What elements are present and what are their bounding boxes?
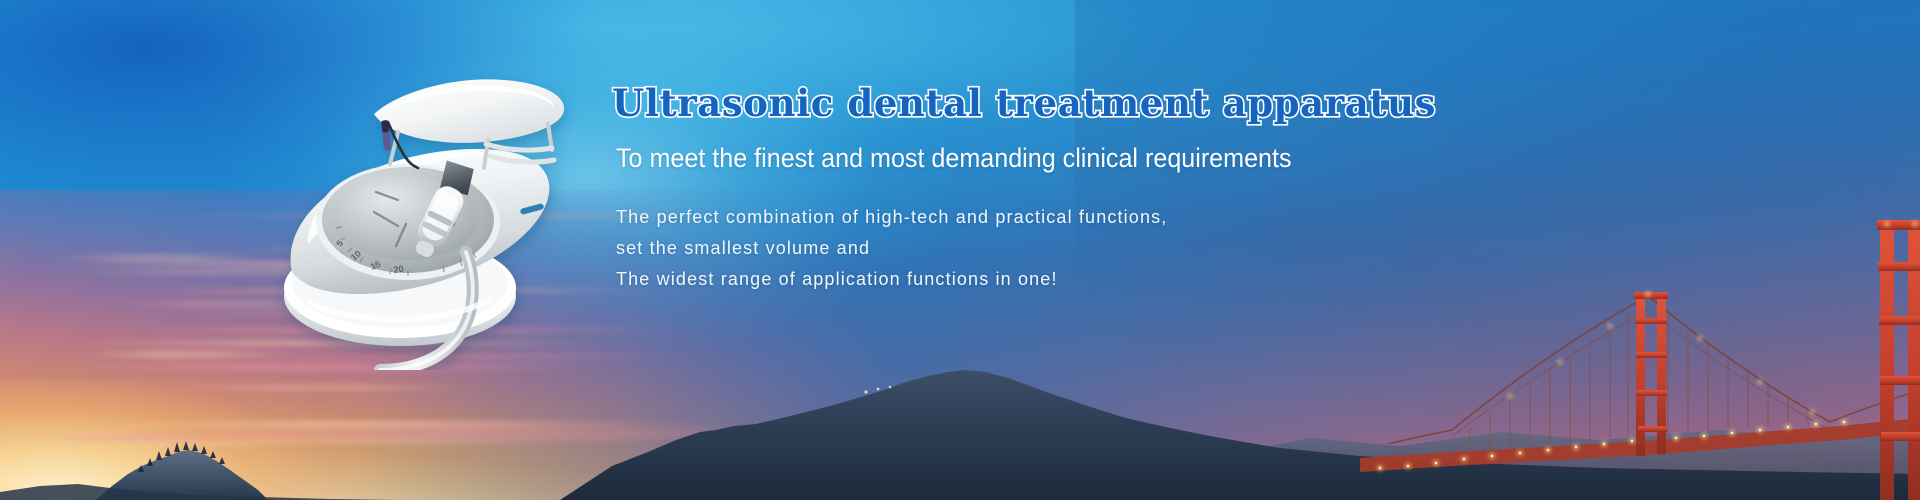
golden-gate-bridge: [1360, 200, 1920, 500]
banner-copy: Ultrasonic dental treatment apparatus To…: [612, 84, 1312, 295]
body-line-3: The widest range of application function…: [616, 264, 1312, 295]
banner-subtitle: To meet the finest and most demanding cl…: [616, 143, 1263, 174]
banner-body-text: The perfect combination of high-tech and…: [616, 202, 1312, 295]
page-title: Ultrasonic dental treatment apparatus: [612, 84, 1312, 123]
body-line-1: The perfect combination of high-tech and…: [616, 202, 1312, 233]
ultrasonic-scaler-product-image: 20 15 10 5 S: [248, 40, 608, 370]
hero-banner: 20 15 10 5 S: [0, 0, 1920, 500]
body-line-2: set the smallest volume and: [616, 233, 1312, 264]
dial-label-20: 20: [393, 264, 404, 275]
